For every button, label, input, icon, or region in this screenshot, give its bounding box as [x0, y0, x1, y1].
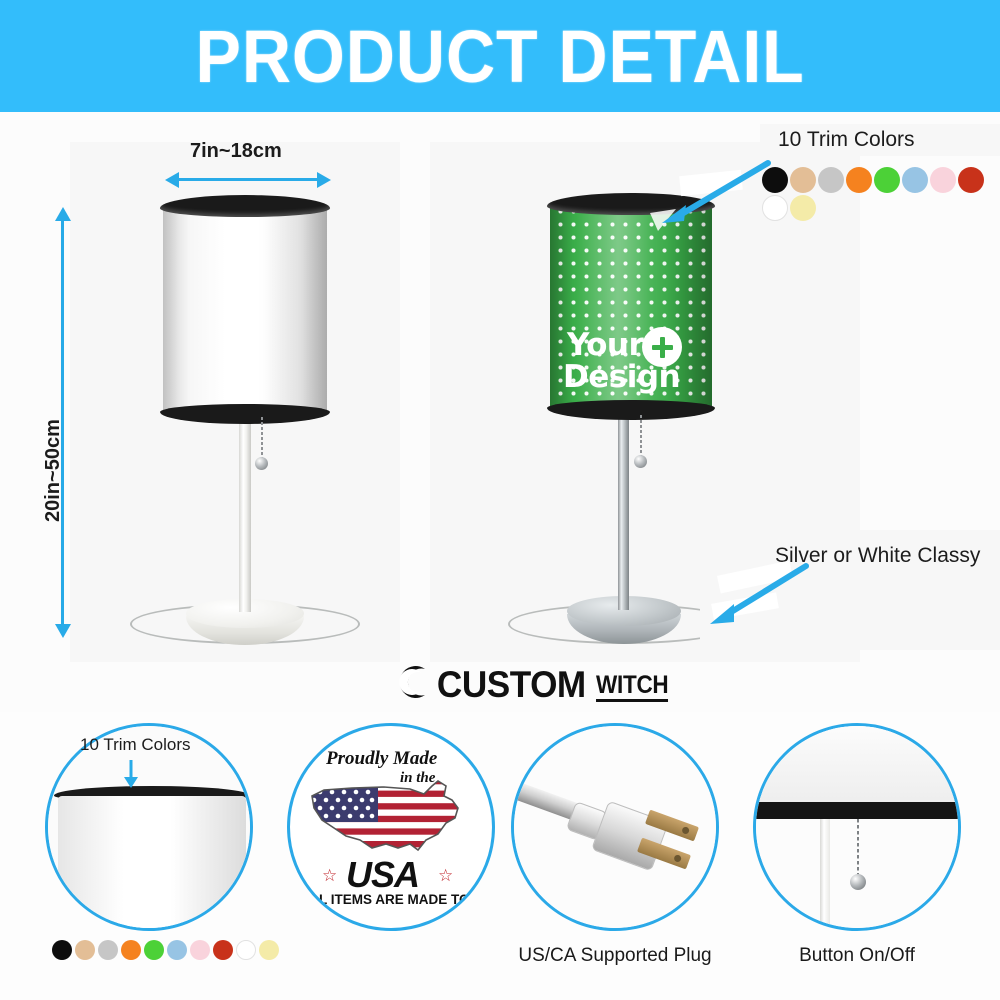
trim-swatch-light-blue[interactable]	[902, 167, 928, 193]
pole-closeup	[820, 819, 830, 931]
star-right-icon: ☆	[438, 866, 453, 886]
page-header-banner: PRODUCT DETAIL	[0, 0, 1000, 112]
shade-surface-closeup	[58, 796, 246, 931]
trim-swatch-green[interactable]	[874, 167, 900, 193]
logo-text-custom: CUSTOM	[437, 668, 586, 702]
arrow-head-down-icon	[55, 624, 71, 638]
trim-swatch-black[interactable]	[52, 940, 72, 960]
lamp-shade	[163, 204, 327, 414]
height-dimension-arrow	[61, 220, 64, 625]
usa-line-1: Proudly Made	[326, 748, 437, 770]
shade-surface	[163, 204, 327, 414]
pull-chain-ball[interactable]	[255, 457, 268, 470]
width-dimension-label: 7in~18cm	[190, 140, 282, 163]
pull-chain[interactable]	[640, 415, 642, 458]
arrow-head-up-icon	[55, 207, 71, 221]
trim-swatch-pale-yellow[interactable]	[259, 940, 279, 960]
arrow-head-left-icon	[165, 172, 179, 188]
width-dimension-arrow	[178, 178, 318, 181]
logo-text-witch: WITCH	[596, 673, 668, 702]
trim-color-swatch-list-bottom[interactable]	[52, 940, 282, 963]
usa-map-icon	[306, 778, 482, 860]
trim-swatch-pale-yellow[interactable]	[790, 195, 816, 221]
shade-bottom-closeup	[756, 723, 961, 806]
trim-swatch-orange[interactable]	[846, 167, 872, 193]
trim-down-arrow-icon	[118, 758, 144, 790]
base-pointer-arrow-icon	[700, 554, 820, 634]
lamp-pole	[618, 410, 629, 610]
trim-swatch-light-blue[interactable]	[167, 940, 187, 960]
brand-logo: CUSTOM WITCH	[392, 662, 672, 702]
trim-swatch-green[interactable]	[144, 940, 164, 960]
main-stage: 7in~18cm 20in~50cm	[0, 112, 1000, 712]
pull-chain-ball[interactable]	[634, 455, 647, 468]
trim-swatch-pink[interactable]	[930, 167, 956, 193]
trim-swatch-tan[interactable]	[790, 167, 816, 193]
star-left-icon: ☆	[322, 866, 337, 886]
product-detail-page: PRODUCT DETAIL 7in~18cm 20in~50cm	[0, 0, 1000, 1000]
pull-chain[interactable]	[261, 417, 263, 460]
page-title: PRODUCT DETAIL	[195, 14, 804, 99]
pull-chain-ball-closeup[interactable]	[850, 874, 866, 890]
plug-circle	[511, 723, 719, 931]
plus-vertical	[660, 337, 665, 358]
trim-swatch-orange[interactable]	[121, 940, 141, 960]
logo-crescent-c-icon	[392, 662, 432, 702]
design-line-1: Your	[567, 330, 643, 362]
trim-colors-title: 10 Trim Colors	[778, 128, 915, 152]
usa-title: USA	[346, 854, 419, 896]
pull-chain-closeup[interactable]	[857, 819, 859, 877]
trim-pointer-arrow-icon	[650, 157, 780, 232]
switch-feature-label: Button On/Off	[753, 945, 961, 967]
usa-badge-circle: Proudly Made in the	[287, 723, 495, 931]
trim-closeup	[753, 802, 961, 819]
switch-circle	[753, 723, 961, 931]
usa-badge: Proudly Made in the	[290, 726, 492, 928]
trim-swatch-tan[interactable]	[75, 940, 95, 960]
arrow-head-right-icon	[317, 172, 331, 188]
trim-color-swatch-list[interactable]	[762, 167, 1000, 223]
trim-swatch-gray[interactable]	[98, 940, 118, 960]
usa-subtitle: ALL ITEMS ARE MADE TO ORDER!	[301, 892, 495, 907]
shade-trim-top	[160, 195, 330, 217]
trim-colors-inner-label: 10 Trim Colors	[80, 735, 191, 755]
add-design-icon[interactable]	[642, 327, 682, 367]
trim-swatch-pink[interactable]	[190, 940, 210, 960]
trim-swatch-white[interactable]	[236, 940, 256, 960]
trim-swatch-red[interactable]	[213, 940, 233, 960]
trim-swatch-red[interactable]	[958, 167, 984, 193]
lamp-pole	[239, 412, 251, 612]
lamp-shade: Your Design	[550, 202, 712, 410]
plug-feature-label: US/CA Supported Plug	[511, 945, 719, 967]
trim-swatch-gray[interactable]	[818, 167, 844, 193]
